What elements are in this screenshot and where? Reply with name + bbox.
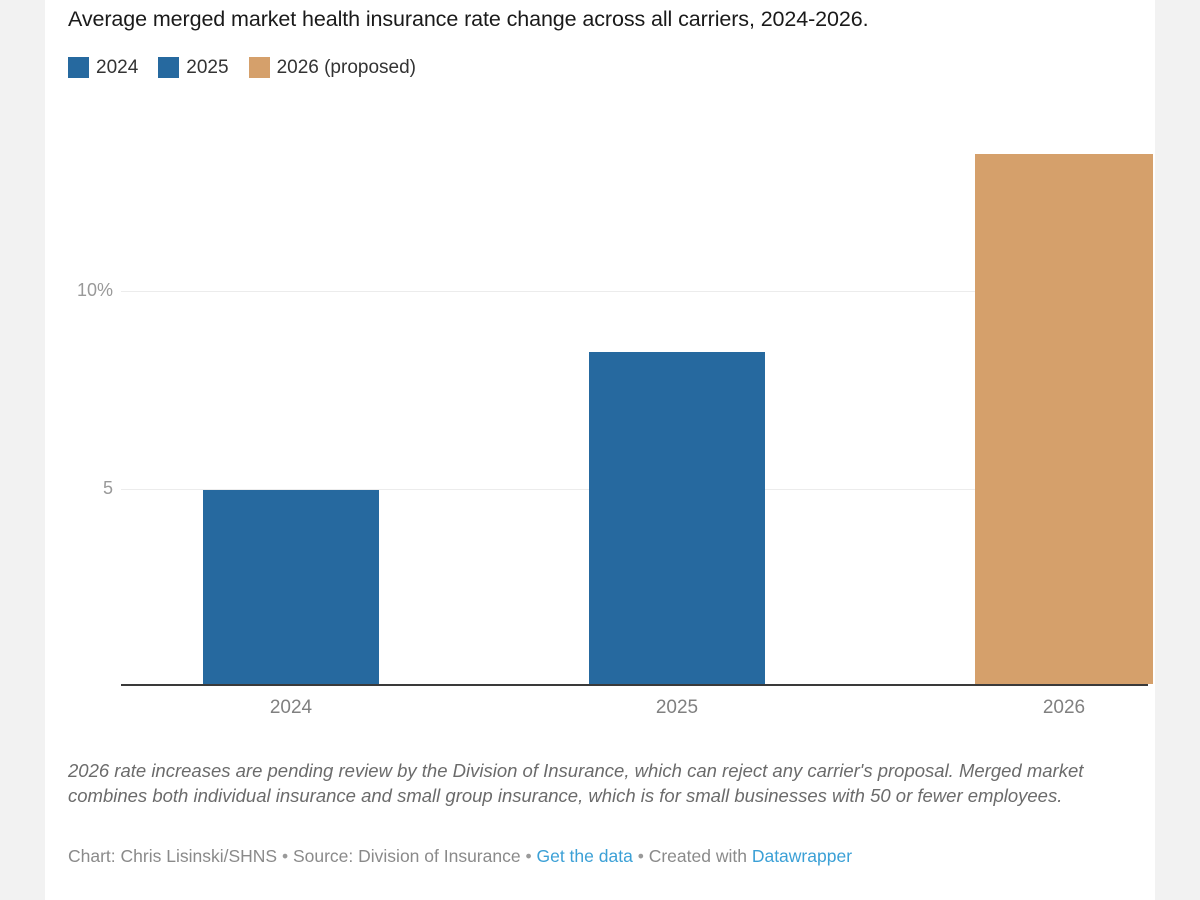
credit-chart-author: Chart: Chris Lisinski/SHNS	[68, 846, 277, 866]
credit-separator-3: •	[638, 846, 644, 866]
page-root: Average merged market health insurance r…	[0, 0, 1200, 900]
bar-2024[interactable]	[203, 490, 379, 684]
ytick-label-10: 10%	[53, 280, 113, 301]
chart-note: 2026 rate increases are pending review b…	[68, 758, 1146, 808]
xtick-label-2025: 2025	[589, 697, 765, 719]
chart-card: Average merged market health insurance r…	[45, 0, 1155, 900]
chart-credit: Chart: Chris Lisinski/SHNS • Source: Div…	[68, 845, 1146, 867]
ytick-label-5: 5	[53, 478, 113, 499]
bar-2025[interactable]	[589, 352, 765, 684]
x-axis-line	[121, 684, 1148, 686]
xtick-label-2024: 2024	[203, 697, 379, 719]
xtick-label-2026: 2026	[975, 697, 1153, 719]
credit-separator-1: •	[282, 846, 288, 866]
credit-separator-2: •	[525, 846, 531, 866]
credit-created-with: Created with	[649, 846, 747, 866]
credit-source: Source: Division of Insurance	[293, 846, 521, 866]
datawrapper-link[interactable]: Datawrapper	[752, 846, 852, 866]
bar-2026[interactable]	[975, 154, 1153, 684]
get-the-data-link[interactable]: Get the data	[536, 846, 632, 866]
